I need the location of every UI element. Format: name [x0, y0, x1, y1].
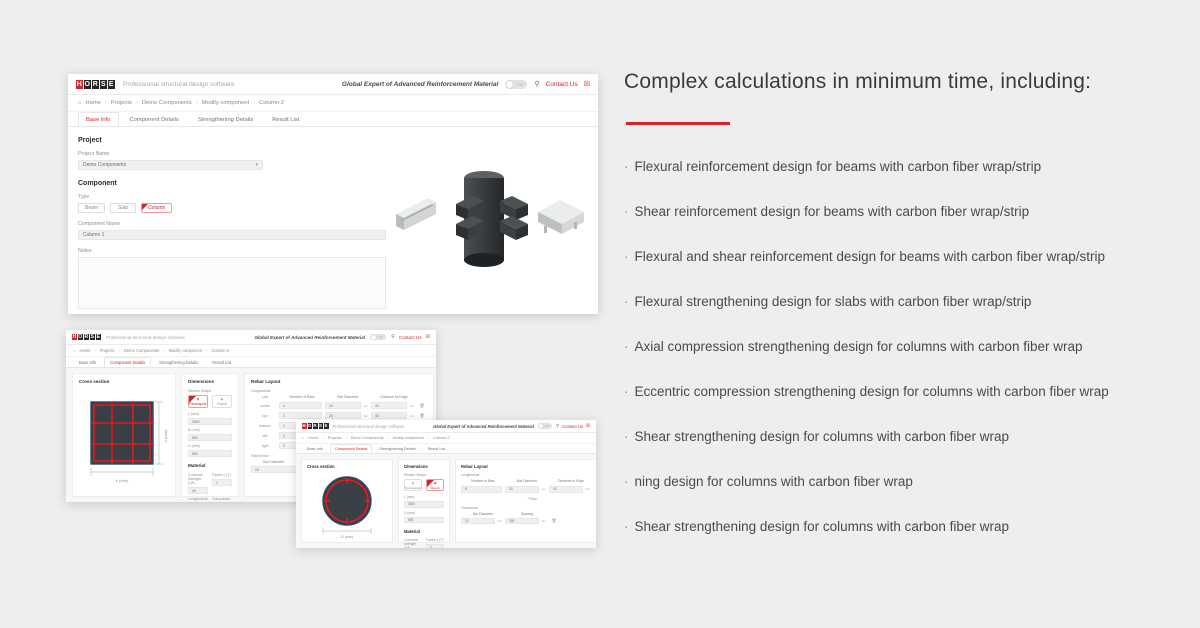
section-shape-label: Section Shape [188, 389, 232, 393]
list-item: ·Flexural strengthening design for slabs… [624, 294, 1184, 309]
dimension-label-b: B (mm) [188, 428, 232, 432]
row-bars-value: 2 [283, 424, 285, 428]
section-shape-group: ▮ Rectangular ◉ Round [404, 479, 444, 491]
slab-3d-model [538, 200, 584, 234]
list-item: ·Axial compression strengthening design … [624, 339, 1184, 354]
logo-letter: S [319, 423, 324, 429]
material-title: Material [188, 463, 232, 468]
component-type-group: Beam Slab Column [78, 203, 388, 213]
dimension-input-d[interactable]: 600 [404, 517, 444, 524]
project-name-value: Demo Components [83, 162, 126, 168]
horse-logo[interactable]: H O R S E [76, 80, 115, 89]
close-icon[interactable]: ☒ [584, 80, 590, 88]
breadcrumb-item-projects[interactable]: Projects [100, 348, 115, 353]
material-value-concrete: 40 [192, 489, 196, 493]
base-info-body: Project Project Name Demo Components ▾ C… [68, 127, 598, 314]
transverse-spacing-input[interactable]: 150 [505, 518, 539, 525]
breadcrumb-separator: › [253, 100, 255, 106]
material-label-concrete: Concrete strength (LW.. [188, 473, 208, 485]
breadcrumb-item-demo-components[interactable]: Demo Components [351, 436, 384, 440]
shape-option-round[interactable]: ◉ Round [426, 479, 444, 491]
row-bars-value: 2 [283, 444, 285, 448]
tab-component-details[interactable]: Component Details [104, 357, 151, 367]
row-edge-unit: mm [409, 414, 414, 418]
app-header: H O R S E Professional structural design… [296, 420, 596, 433]
row-loc: bottom [251, 424, 279, 428]
contact-us-link[interactable]: Contact Us [399, 335, 422, 340]
breadcrumb: ⌂ Home › Projects › Demo Components › Mo… [68, 95, 598, 112]
bullet-marker: · [624, 294, 629, 309]
breadcrumb-item-projects[interactable]: Projects [111, 100, 132, 106]
logo-letter: R [84, 334, 89, 341]
tab-bar: Base Info Component Details Strengthenin… [66, 357, 436, 368]
trash-icon[interactable]: 🗑 [417, 413, 427, 418]
section-diameter-label: D (mm) [341, 535, 353, 539]
shape-option-rectangular[interactable]: ▮ Rectangular [188, 395, 208, 408]
header-toggle[interactable]: ON [370, 334, 386, 341]
list-item: ·Flexural reinforcement design for beams… [624, 159, 1184, 174]
tab-strengthening-details[interactable]: Strengthening Details [153, 357, 204, 367]
circle-icon: ◉ [434, 481, 437, 485]
breadcrumb-item-demo-components[interactable]: Demo Components [124, 348, 159, 353]
longitudinal-rebar-table: Number of Bars Bar Diameter Distance to … [461, 479, 596, 501]
page-root: H O R S E Professional structural design… [0, 0, 1200, 628]
col-distance-to-edge: Distance to Edge [371, 395, 417, 399]
bullet-marker: · [624, 204, 629, 219]
breadcrumb-item-home[interactable]: Home [86, 100, 101, 106]
material-input-factor[interactable]: 1 [426, 544, 444, 548]
logo-letter: S [100, 80, 107, 89]
round-section-drawing: D (mm) [307, 473, 387, 539]
logo-letter: S [90, 334, 95, 341]
section-shape-label: Section Shape [404, 473, 444, 477]
component-name-label: Component Name [78, 221, 388, 227]
row-bars-value: 2 [283, 434, 285, 438]
breadcrumb-separator: › [206, 348, 207, 353]
app-tagline: Professional structural design software [123, 81, 235, 88]
list-item: ·Flexural and shear reinforcement design… [624, 249, 1184, 264]
row-edge-unit: mm [409, 404, 414, 408]
logo-letter: H [72, 334, 77, 341]
selected-flag-icon [189, 396, 196, 403]
logo-letter: R [92, 80, 99, 89]
cross-section-panel: Cross section [301, 459, 393, 543]
row-loc: left [251, 434, 279, 438]
tab-result-list[interactable]: Result List [423, 444, 451, 453]
globe-icon[interactable]: ⚲ [534, 80, 539, 88]
project-name-label: Project Name [78, 151, 388, 157]
list-item-label: Shear strengthening design for columns w… [635, 429, 1009, 444]
breadcrumb-separator: › [119, 348, 120, 353]
dimension-value-b: 600 [192, 436, 198, 440]
row-dia-value: 20 [329, 404, 333, 408]
app-header: H O R S E Professional structural design… [66, 330, 436, 345]
project-section-title: Project [78, 137, 388, 144]
selected-flag-icon [142, 204, 148, 210]
breadcrumb-separator: › [428, 436, 429, 440]
transverse-dia-value: 10 [255, 468, 259, 472]
row-dia-input[interactable]: 20 [325, 402, 361, 409]
material-title: Material [404, 529, 444, 534]
dimensions-panel: Dimensions Section Shape ▮ Rectangular ◉… [398, 459, 450, 543]
bullet-marker: · [624, 474, 629, 489]
breadcrumb-item-demo-components[interactable]: Demo Components [142, 100, 192, 106]
dimensions-title: Dimensions [404, 464, 444, 469]
breadcrumb-item-column-2[interactable]: Column-2 [211, 348, 229, 353]
dimension-label-h: H (mm) [188, 444, 232, 448]
globe-icon[interactable]: ⚲ [391, 334, 395, 340]
trash-icon[interactable]: 🗑 [593, 487, 596, 492]
row-dia-input[interactable]: 20 [505, 486, 539, 493]
dimension-value-l: 3000 [192, 420, 200, 424]
breadcrumb-separator: › [163, 348, 164, 353]
list-item-label: Shear strengthening design for columns w… [635, 519, 1009, 534]
bullet-marker: · [624, 159, 629, 174]
model-viewport[interactable] [388, 135, 588, 306]
logo-letter: E [324, 423, 329, 429]
table-row[interactable]: corner 4 20mm 40mm 🗑 [251, 402, 427, 409]
dimension-label-l: L (mm) [404, 495, 444, 499]
col-loc: Loc [251, 395, 279, 399]
list-item-label: Eccentric compression strengthening desi… [635, 384, 1109, 399]
row-dia-value: 20 [509, 487, 513, 491]
col-bar-diameter: Bar Diameter [505, 479, 549, 483]
header-toggle[interactable]: ON [505, 80, 527, 89]
logo-letter: O [308, 423, 313, 429]
table-row[interactable]: top 2 20mm 40mm 🗑 [251, 412, 427, 419]
row-edge-value: 40 [375, 404, 379, 408]
col-transverse-spacing: Spacing [505, 512, 549, 516]
type-option-column-label: Column [148, 205, 165, 211]
bullet-marker: · [624, 384, 629, 399]
type-option-column[interactable]: Column [141, 203, 172, 213]
row-dia-input[interactable]: 20 [325, 412, 361, 419]
app-slogan: Global Expert of Advanced Reinforcement … [342, 81, 499, 88]
component-type-label: Type [78, 194, 388, 200]
breadcrumb-item-home[interactable]: Home [79, 348, 90, 353]
chevron-down-icon: ▾ [255, 162, 258, 168]
tab-base-info[interactable]: Base Info [73, 357, 102, 367]
list-item: ·ning design for columns with carbon fib… [624, 474, 1184, 489]
tab-result-list[interactable]: Result List [206, 357, 237, 367]
horse-logo[interactable]: H O R S E [72, 334, 101, 341]
app-window-base-info[interactable]: H O R S E Professional structural design… [68, 74, 598, 314]
breadcrumb-item-home[interactable]: Home [308, 436, 318, 440]
type-option-beam[interactable]: Beam [78, 203, 105, 213]
logo-letter: E [108, 80, 115, 89]
longitudinal-label: Longitudinal [461, 473, 596, 477]
col-distance-to-edge: Distance to Edge [549, 479, 593, 483]
app-tagline: Professional structural design software [106, 335, 185, 340]
row-bars-value: 4 [283, 404, 285, 408]
circle-icon: ◉ [221, 397, 224, 401]
globe-icon[interactable]: ⚲ [556, 423, 559, 429]
component-section-title: Component [78, 180, 388, 187]
list-item-label: Axial compression strengthening design f… [635, 339, 1083, 354]
toggle-label: ON [376, 335, 385, 339]
dimension-value-h: 600 [192, 452, 198, 456]
breadcrumb: ⌂ Home › Projects › Demo Components › Mo… [66, 345, 436, 357]
row-loc: top [251, 414, 279, 418]
tab-component-details[interactable]: Component Details [122, 112, 187, 126]
home-icon[interactable]: ⌂ [302, 436, 304, 440]
transverse-dia-input[interactable]: 10 [461, 518, 495, 525]
rebar-layout-title: Rebar Layout [461, 464, 596, 469]
horse-logo[interactable]: H O R S E [302, 423, 329, 429]
dimension-input-h[interactable]: 600 [188, 450, 232, 457]
breadcrumb-item-modify-component[interactable]: Modify component [393, 436, 424, 440]
col-transverse-bar-diameter: Bar Diameter [461, 512, 505, 516]
dimensions-title: Dimensions [188, 379, 232, 384]
material-input-concrete[interactable]: 40 [188, 487, 208, 494]
transverse-spacing-unit: mm [541, 519, 546, 523]
type-option-slab[interactable]: Slab [110, 203, 136, 213]
app-header: H O R S E Professional structural design… [68, 74, 598, 95]
rect-icon: ▮ [412, 481, 414, 485]
component-3d-models [388, 156, 588, 286]
tab-base-info[interactable]: Base Info [78, 112, 119, 126]
dimension-input-l[interactable]: 3000 [404, 501, 444, 508]
add-row-button[interactable]: + Row [461, 497, 596, 501]
tab-base-info[interactable]: Base Info [302, 444, 328, 453]
dimensions-panel: Dimensions Section Shape ▮ Rectangular ◉… [181, 373, 239, 497]
row-edge-value: 40 [375, 414, 379, 418]
beam-3d-model [396, 198, 436, 230]
longitudinal-label: Longitudinal [251, 389, 427, 393]
feature-list: ·Flexural reinforcement design for beams… [624, 159, 1184, 534]
tab-strengthening-details[interactable]: Strengthening Details [190, 112, 261, 126]
home-icon[interactable]: ⌂ [78, 100, 82, 106]
material-value-factor: 1 [216, 481, 218, 485]
transverse-dia-value: 10 [465, 519, 469, 523]
shape-option-round-label: Round [217, 402, 226, 406]
contact-us-link[interactable]: Contact Us [546, 81, 578, 88]
toggle-label: ON [543, 424, 551, 428]
logo-letter: H [76, 80, 83, 89]
transverse-spacing-value: 150 [509, 519, 514, 523]
breadcrumb-separator: › [196, 100, 198, 106]
cross-section-title: Cross section [79, 379, 169, 384]
row-dia-unit: mm [363, 404, 368, 408]
toggle-label: ON [513, 82, 526, 87]
row-loc: corner [251, 404, 279, 408]
section-width-label: b (mm) [116, 478, 129, 483]
bullet-marker: · [624, 519, 629, 534]
list-item-label: Flexural reinforcement design for beams … [635, 159, 1042, 174]
tab-result-list[interactable]: Result List [264, 112, 307, 126]
row-bars-value: 8 [465, 487, 467, 491]
breadcrumb-item-projects[interactable]: Projects [328, 436, 342, 440]
contact-us-link[interactable]: Contact Us [562, 424, 583, 429]
row-bars-value: 2 [283, 414, 285, 418]
table-row[interactable]: 8 20mm 40mm 🗑 [461, 486, 596, 493]
bullet-marker: · [624, 249, 629, 264]
row-dia-value: 20 [329, 414, 333, 418]
logo-letter: R [313, 423, 318, 429]
title-underline-rule [626, 122, 730, 125]
material-label-transverse: Transverse steel strengt.. [212, 497, 232, 502]
row-dia-unit: mm [541, 487, 546, 491]
home-icon[interactable]: ⌂ [73, 348, 75, 353]
list-item-label: ning design for columns with carbon fibe… [635, 474, 913, 489]
trash-icon[interactable]: 🗑 [417, 403, 427, 408]
base-info-form: Project Project Name Demo Components ▾ C… [78, 135, 388, 306]
transverse-dia-unit: mm [497, 519, 502, 523]
list-item: ·Eccentric compression strengthening des… [624, 384, 1184, 399]
row-edge-input[interactable]: 40 [549, 486, 583, 493]
close-icon[interactable]: ☒ [586, 423, 590, 429]
dimension-input-l[interactable]: 3000 [188, 418, 232, 425]
material-value-factor: 1 [430, 545, 432, 548]
list-item: ·Shear strengthening design for columns … [624, 519, 1184, 534]
app-tagline: Professional structural design software [333, 424, 405, 429]
row-dia-unit: mm [363, 414, 368, 418]
transverse-row[interactable]: 10mm 150mm 🗑 [461, 518, 596, 525]
breadcrumb-separator: › [387, 436, 388, 440]
row-bars-input[interactable]: 2 [279, 412, 322, 419]
app-slogan: Global Expert of Advanced Reinforcement … [254, 335, 365, 340]
list-item-label: Shear reinforcement design for beams wit… [635, 204, 1030, 219]
transverse-header-row: Bar Diameter Spacing [461, 512, 596, 516]
app-slogan: Global Expert of Advanced Reinforcement … [433, 424, 534, 429]
row-loc: right [251, 444, 279, 448]
shape-option-rectangular[interactable]: ▮ Rectangular [404, 479, 422, 491]
list-item-label: Flexural strengthening design for slabs … [635, 294, 1032, 309]
cross-section-title: Cross section [307, 464, 387, 469]
section-height-label: h (mm) [163, 429, 168, 442]
close-icon[interactable]: ☒ [426, 334, 430, 340]
row-edge-input[interactable]: 40 [371, 412, 407, 419]
list-item: ·Shear reinforcement design for beams wi… [624, 204, 1184, 219]
dimension-label-d: D (mm) [404, 511, 444, 515]
section-shape-group: ▮ Rectangular ◉ Round [188, 395, 232, 408]
logo-letter: H [302, 423, 307, 429]
notes-label: Notes [78, 248, 388, 254]
rect-icon: ▮ [197, 397, 199, 401]
trash-icon[interactable]: 🗑 [549, 518, 559, 523]
row-edge-unit: mm [585, 487, 590, 491]
shape-option-round[interactable]: ◉ Round [212, 395, 232, 408]
shape-option-rectangular-label: Rectangular [405, 486, 421, 490]
breadcrumb-separator: › [136, 100, 138, 106]
cross-section-viewport[interactable]: b (mm) h (mm) [79, 389, 169, 489]
material-label-concrete: Concrete strength (LW.. [404, 538, 422, 548]
dimension-value-d: 600 [408, 518, 413, 522]
rebar-layout-title: Rebar Layout [251, 379, 427, 384]
row-bars-input[interactable]: 4 [279, 402, 322, 409]
header-toggle[interactable]: ON [538, 423, 552, 429]
list-item-label: Flexural and shear reinforcement design … [635, 249, 1105, 264]
dimension-label-l: L (mm) [188, 412, 232, 416]
list-item: ·Shear strengthening design for columns … [624, 429, 1184, 444]
tab-bar: Base Info Component Details Strengthenin… [296, 444, 596, 454]
breadcrumb-separator: › [322, 436, 323, 440]
material-label-factor: Factor γ (T) [212, 473, 232, 477]
cross-section-viewport[interactable]: D (mm) [307, 473, 387, 539]
material-label-factor: Factor γ (T) [426, 538, 444, 542]
component-name-input[interactable]: Column 1 [78, 230, 386, 240]
breadcrumb-separator: › [105, 100, 107, 106]
transverse-label: Transverse [461, 506, 596, 510]
project-name-select[interactable]: Demo Components ▾ [78, 160, 263, 170]
table-header-row: Loc Number of Bars Bar Diameter Distance… [251, 395, 427, 399]
selected-flag-icon [427, 480, 434, 487]
dimension-input-b[interactable]: 600 [188, 434, 232, 441]
col-number-of-bars: Number of Bars [461, 479, 505, 483]
breadcrumb-separator: › [345, 436, 346, 440]
logo-letter: E [96, 334, 101, 341]
row-edge-value: 40 [553, 487, 557, 491]
breadcrumb-separator: › [94, 348, 95, 353]
component-details-body: Cross section [296, 454, 596, 548]
toggle-knob [506, 81, 513, 88]
rebar-layout-panel: Rebar Layout Longitudinal Number of Bars… [455, 459, 596, 543]
row-bars-input[interactable]: 8 [461, 486, 502, 493]
breadcrumb-item-modify-component[interactable]: Modify component [202, 100, 249, 106]
tab-bar: Base Info Component Details Strengthenin… [68, 112, 598, 127]
material-label-longitudinal: Longitudinal steel stren.. [188, 497, 208, 502]
breadcrumb-item-modify-component[interactable]: Modify component [169, 348, 202, 353]
col-number-of-bars: Number of Bars [279, 395, 325, 399]
breadcrumb-item-column-2[interactable]: Column-2 [259, 100, 284, 106]
logo-letter: O [78, 334, 83, 341]
col-transverse-bar-diameter: Bar Diameter [251, 460, 297, 464]
column-3d-model [456, 171, 528, 267]
marketing-panel: Complex calculations in minimum time, in… [624, 70, 1184, 564]
dimension-value-l: 3000 [408, 502, 415, 506]
bullet-marker: · [624, 339, 629, 354]
bullet-marker: · [624, 429, 629, 444]
notes-textarea[interactable] [78, 257, 386, 309]
row-edge-input[interactable]: 40 [371, 402, 407, 409]
component-name-value: Column 1 [83, 232, 104, 238]
col-bar-diameter: Bar Diameter [325, 395, 371, 399]
tab-component-details[interactable]: Component Details [330, 444, 372, 453]
rect-section-drawing: b (mm) h (mm) [79, 392, 169, 487]
cross-section-panel: Cross section [72, 373, 176, 497]
page-title: Complex calculations in minimum time, in… [624, 70, 1184, 94]
breadcrumb: ⌂ Home › Projects › Demo Components › Mo… [296, 433, 596, 444]
logo-letter: O [84, 80, 91, 89]
breadcrumb-item-column-2[interactable]: Column-2 [433, 436, 449, 440]
app-window-component-details-round[interactable]: H O R S E Professional structural design… [296, 420, 596, 548]
tab-strengthening-details[interactable]: Strengthening Details [374, 444, 420, 453]
material-input-factor[interactable]: 1 [212, 479, 232, 486]
table-header-row: Number of Bars Bar Diameter Distance to … [461, 479, 596, 483]
